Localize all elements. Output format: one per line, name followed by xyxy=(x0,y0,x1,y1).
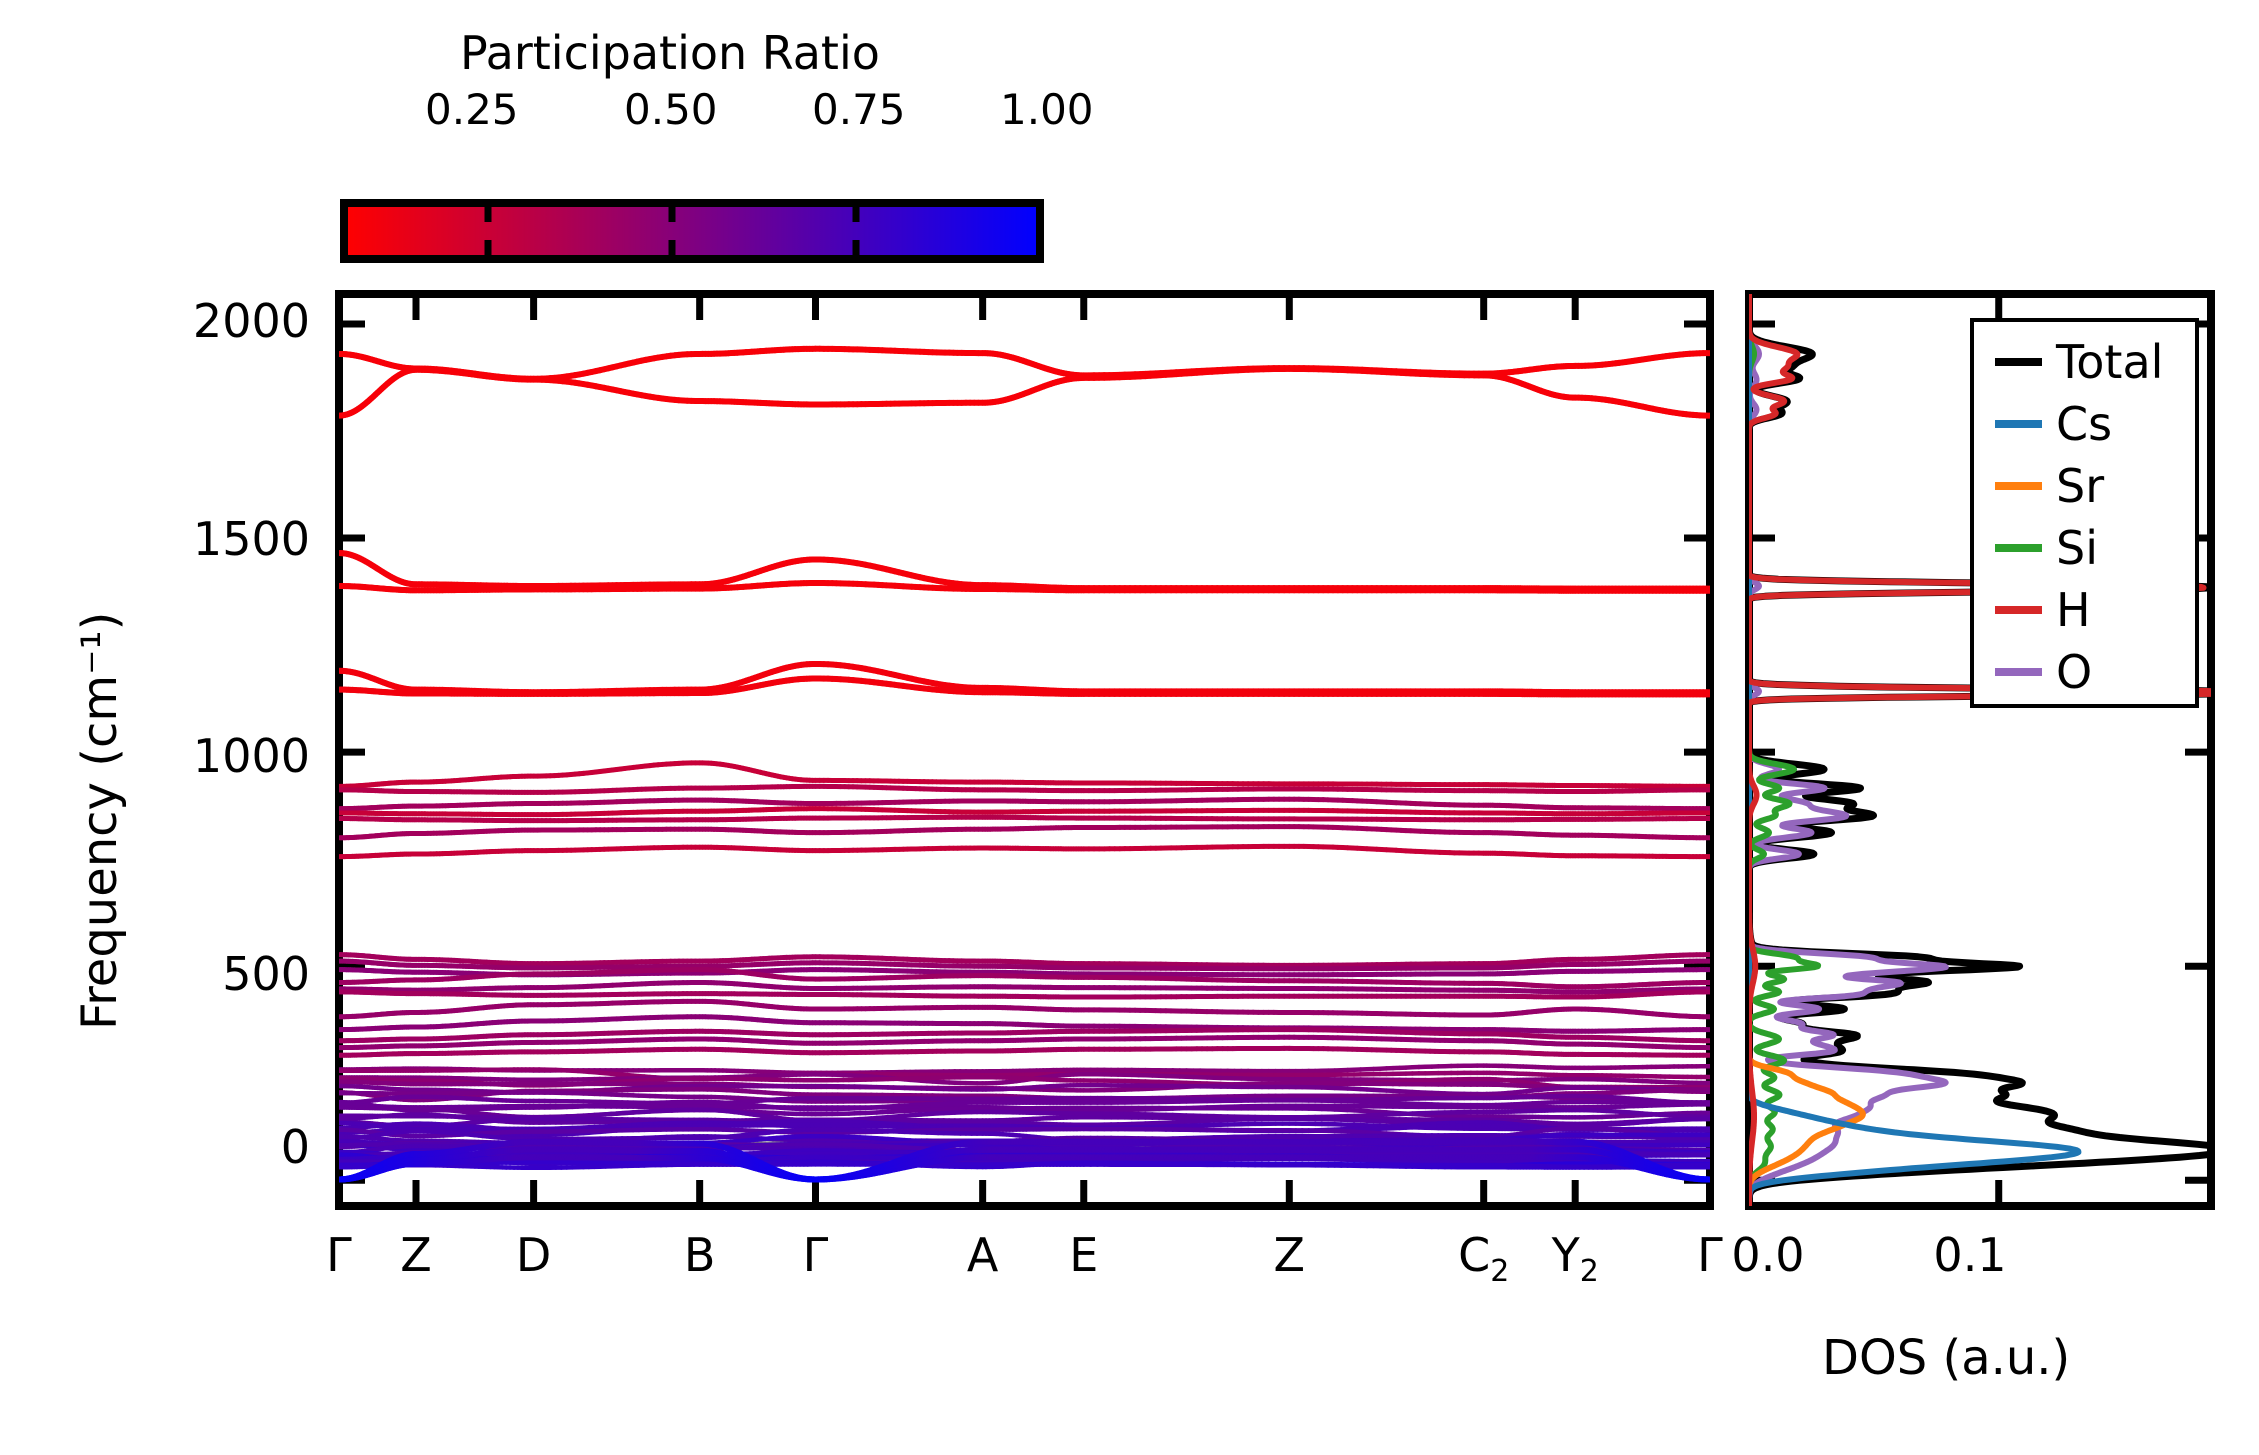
band-x-tick-2: D xyxy=(444,1228,624,1282)
band-x-tick-4: Γ xyxy=(725,1228,905,1282)
y-tick-label-0: 0 xyxy=(100,1120,310,1174)
dos-x-tick-1: 0.1 xyxy=(1880,1228,2060,1282)
colorbar-swatch xyxy=(344,203,1040,259)
legend-label-si: Si xyxy=(2056,521,2098,575)
legend-label-cs: Cs xyxy=(2056,397,2112,451)
y-tick-label-2000: 2000 xyxy=(100,294,310,348)
y-tick-label-500: 500 xyxy=(100,947,310,1001)
band-curves xyxy=(339,349,1710,1180)
band-x-tick-7: Z xyxy=(1199,1228,1379,1282)
legend-label-o: O xyxy=(2056,645,2092,699)
y-tick-label-1500: 1500 xyxy=(100,512,310,566)
dos-x-axis-label: DOS (a.u.) xyxy=(1822,1330,2070,1386)
y-tick-label-1000: 1000 xyxy=(100,729,310,783)
legend-label-total: Total xyxy=(2055,335,2163,389)
legend-label-h: H xyxy=(2056,583,2091,637)
band-x-tick-6: E xyxy=(994,1228,1174,1282)
dos-legend[interactable]: TotalCsSrSiHO xyxy=(1972,320,2197,706)
legend-label-sr: Sr xyxy=(2056,459,2104,513)
dos-x-tick-0: 0.0 xyxy=(1678,1228,1858,1282)
